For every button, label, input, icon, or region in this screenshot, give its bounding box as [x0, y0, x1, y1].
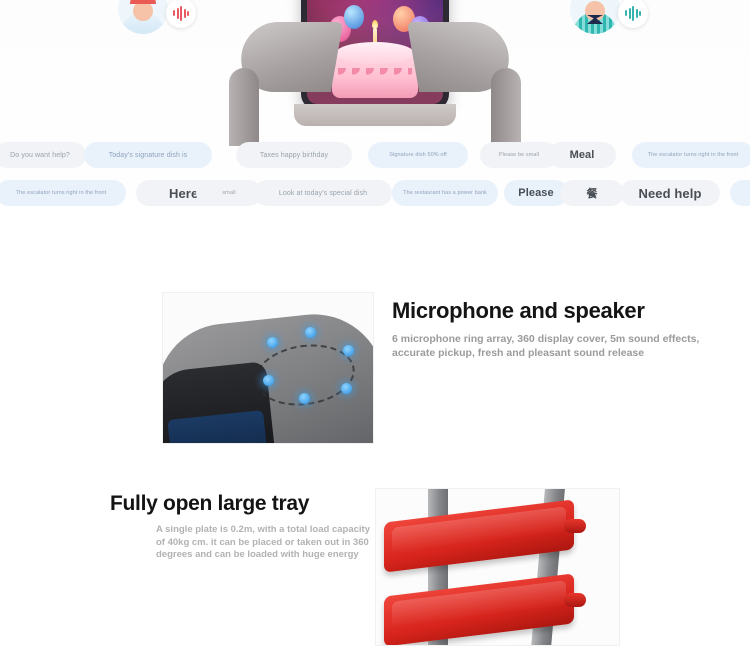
- avatar-waiter-right: [570, 0, 648, 36]
- voice-command-chip[interactable]: [730, 180, 750, 206]
- tray-product-image: [375, 488, 620, 646]
- robot-leg: [229, 68, 259, 146]
- section-description-tray: A single plate is 0.2m, with a total loa…: [156, 524, 380, 562]
- microphone-dot-icon: [299, 393, 310, 404]
- voice-command-chip[interactable]: Look at today's special dish: [254, 180, 392, 206]
- birthday-cake-icon: [332, 24, 418, 98]
- microphone-dot-icon: [263, 375, 274, 386]
- service-robot-illustration: [225, 0, 525, 244]
- section-title-tray: Fully open large tray: [110, 492, 380, 516]
- microphone-dot-icon: [343, 345, 354, 356]
- microphone-product-image: [162, 292, 374, 444]
- voice-command-chip[interactable]: Do you want help?: [0, 142, 86, 168]
- voice-command-chip[interactable]: small: [196, 180, 262, 206]
- avatar: [570, 0, 620, 34]
- microphone-copy-block: Microphone and speaker 6 microphone ring…: [392, 298, 744, 360]
- voice-command-chip[interactable]: Today's signature dish is: [84, 142, 212, 168]
- chef-hat-icon: [130, 0, 156, 4]
- section-title-microphone: Microphone and speaker: [392, 298, 744, 324]
- robot-arm-left: [219, 22, 337, 144]
- voice-wave-icon: [166, 0, 196, 28]
- tray-knob: [564, 593, 586, 607]
- robot-leg: [491, 68, 521, 146]
- tray-copy-block: Fully open large tray A single plate is …: [110, 492, 380, 562]
- product-detail-page: Do you want help?Today's signature dish …: [0, 0, 750, 651]
- voice-command-chip-row-1: Do you want help?Today's signature dish …: [0, 142, 750, 168]
- voice-command-chip[interactable]: The restaurant has a power bank: [392, 180, 498, 206]
- microphone-dot-icon: [267, 337, 278, 348]
- robot-arm-right: [413, 22, 531, 144]
- voice-command-chip[interactable]: Taxes happy birthday: [236, 142, 352, 168]
- cake-top: [336, 42, 414, 64]
- section-fully-open-large-tray: Fully open large tray A single plate is …: [0, 488, 750, 651]
- voice-command-chip[interactable]: Meal: [548, 142, 616, 168]
- voice-command-chip[interactable]: Signature dish 50% off: [368, 142, 468, 168]
- section-microphone-and-speaker: Microphone and speaker 6 microphone ring…: [0, 288, 750, 460]
- voice-command-chip[interactable]: 餐: [560, 180, 624, 206]
- voice-command-chip[interactable]: The escalator turns right in the front: [632, 142, 750, 168]
- voice-wave-icon: [618, 0, 648, 28]
- section-description-microphone: 6 microphone ring array, 360 display cov…: [392, 332, 744, 360]
- microphone-dot-icon: [305, 327, 316, 338]
- voice-command-chip[interactable]: The escalator turns right in the front: [0, 180, 126, 206]
- avatar-face: [133, 1, 153, 21]
- voice-command-chip[interactable]: Need help: [620, 180, 720, 206]
- cake-drip: [338, 68, 412, 84]
- voice-command-chip-row-2: The escalator turns right in the frontHe…: [0, 180, 750, 206]
- avatar-chef-left: [118, 0, 196, 36]
- microphone-dot-icon: [341, 383, 352, 394]
- tray-knob: [564, 519, 586, 533]
- voice-command-chip[interactable]: Please: [504, 180, 568, 206]
- hero-banner: Do you want help?Today's signature dish …: [0, 0, 750, 245]
- avatar: [118, 0, 168, 34]
- voice-command-chip[interactable]: Please be small: [480, 142, 558, 168]
